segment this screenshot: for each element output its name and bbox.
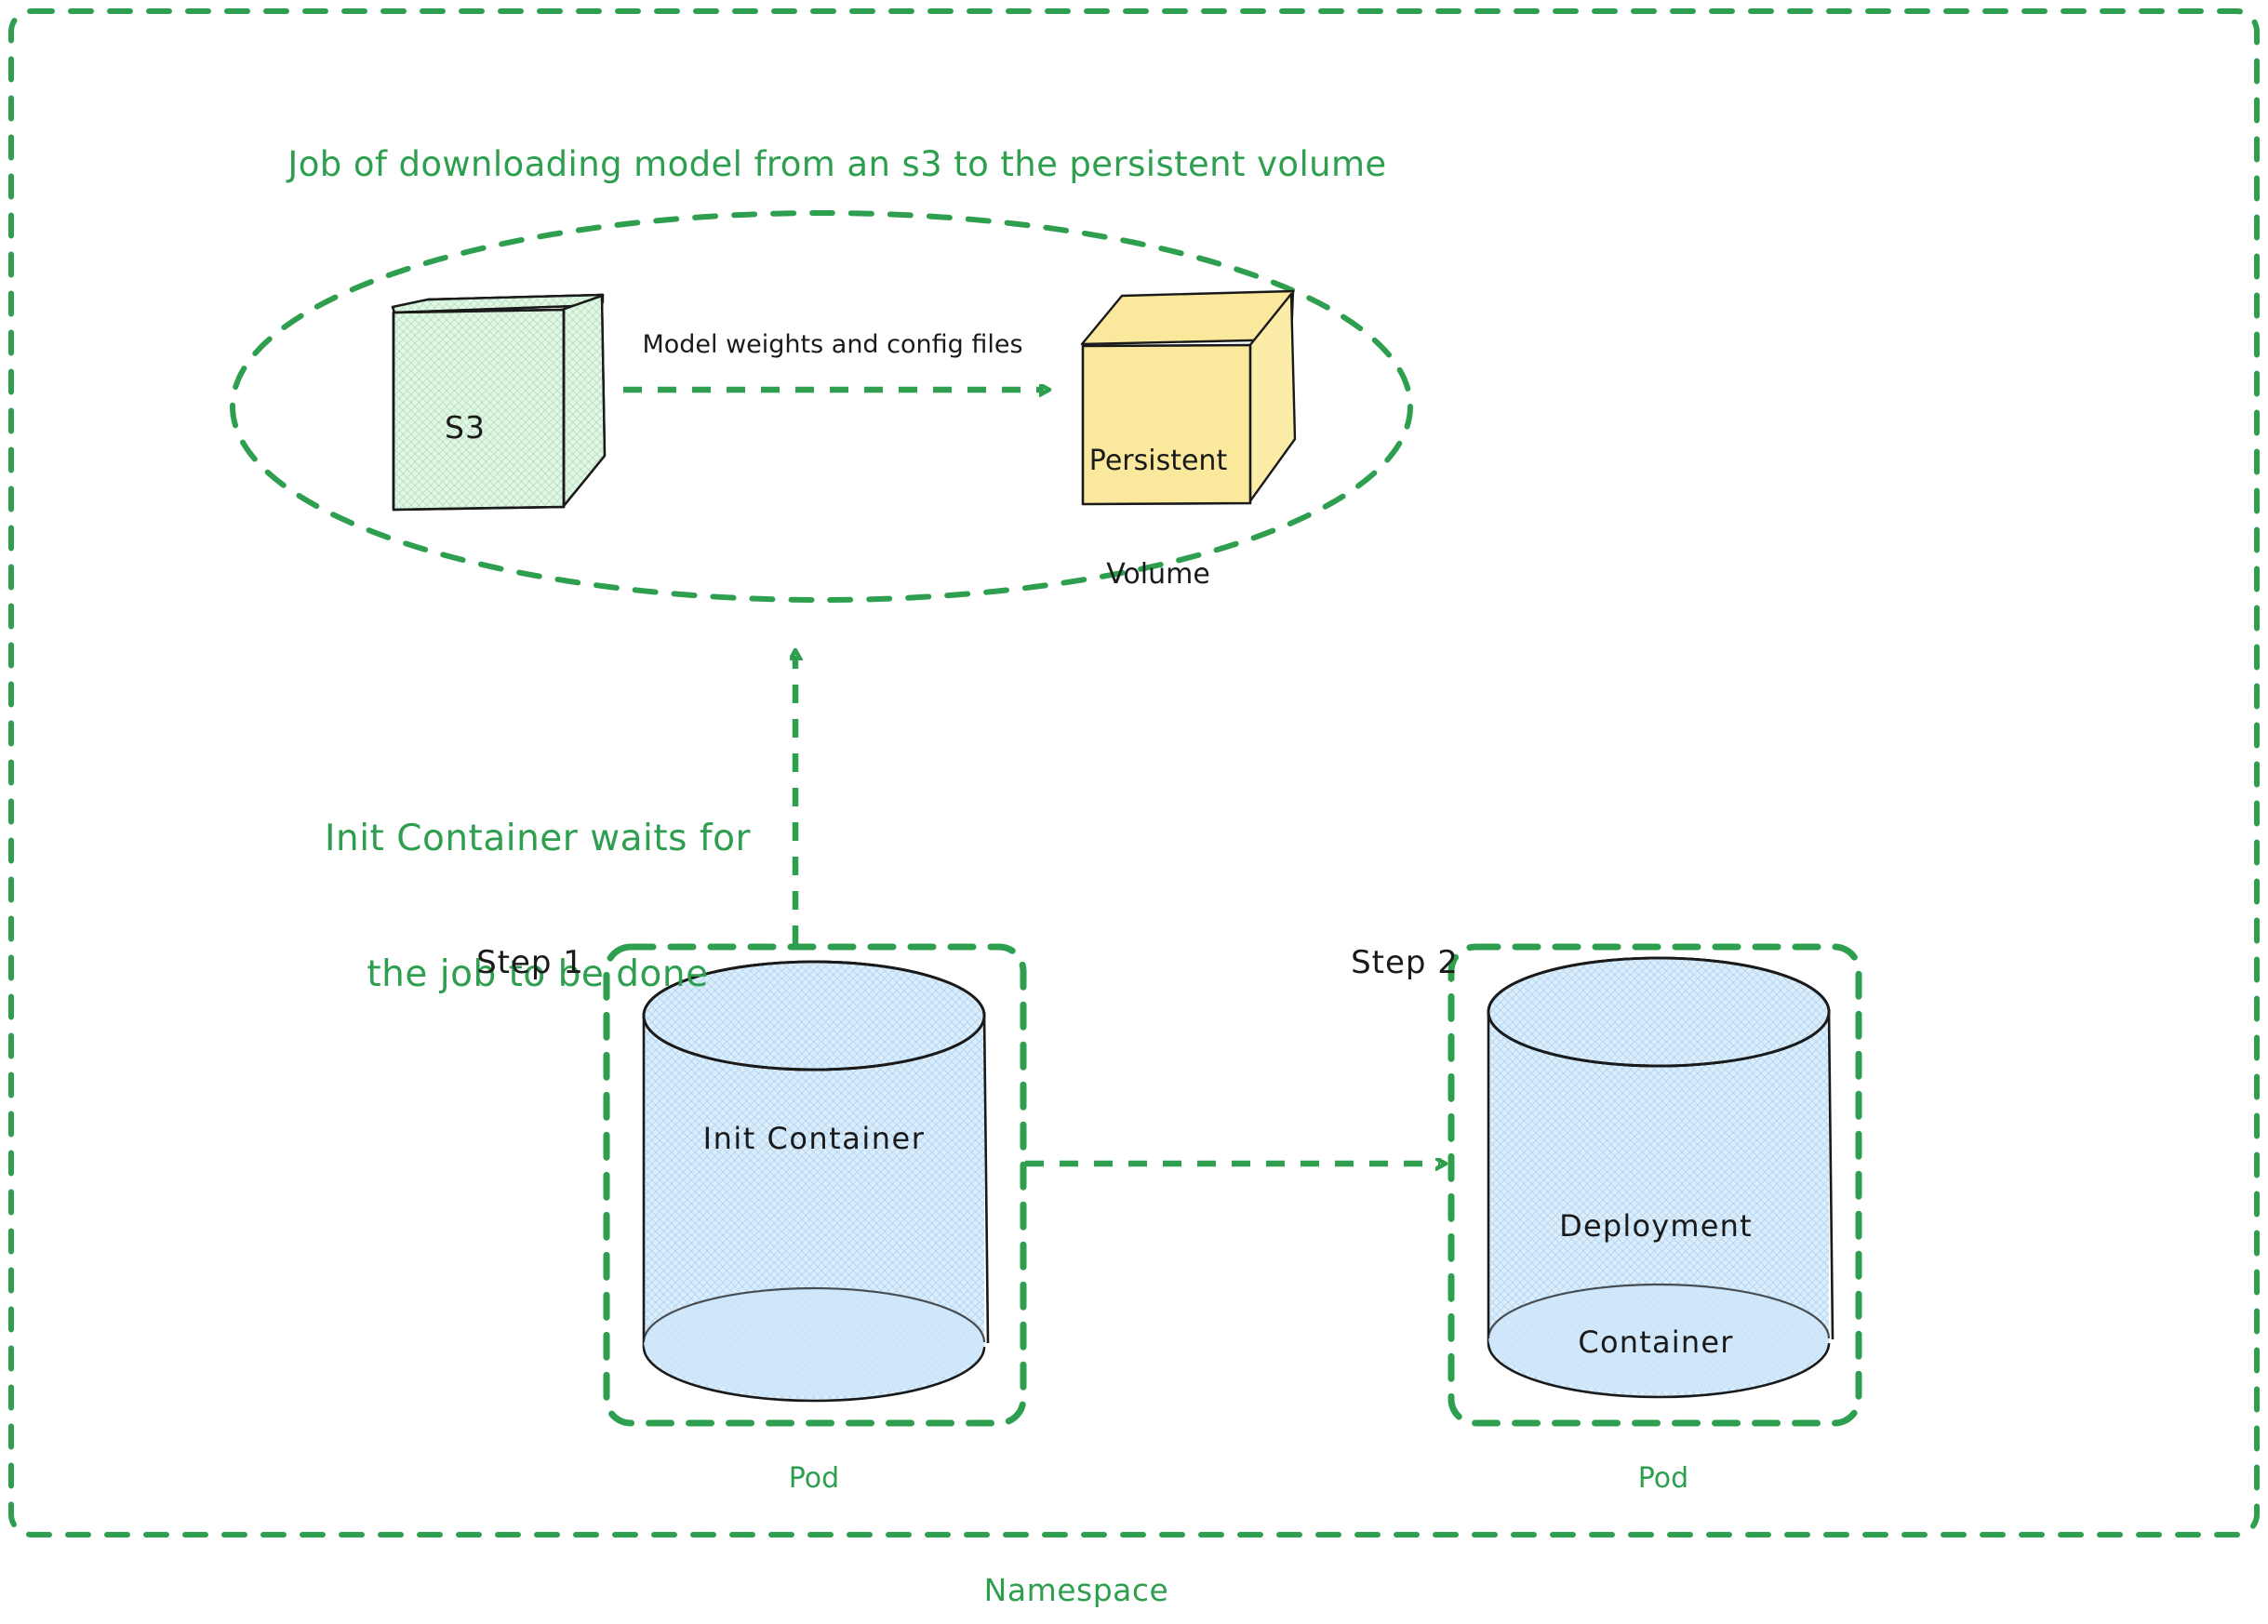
deployment-container-cylinder <box>1488 958 1833 1397</box>
s3-cube <box>393 291 605 510</box>
persistent-volume-cube <box>1082 291 1295 504</box>
diagram-canvas <box>0 0 2268 1624</box>
init-container-cylinder <box>644 962 988 1401</box>
